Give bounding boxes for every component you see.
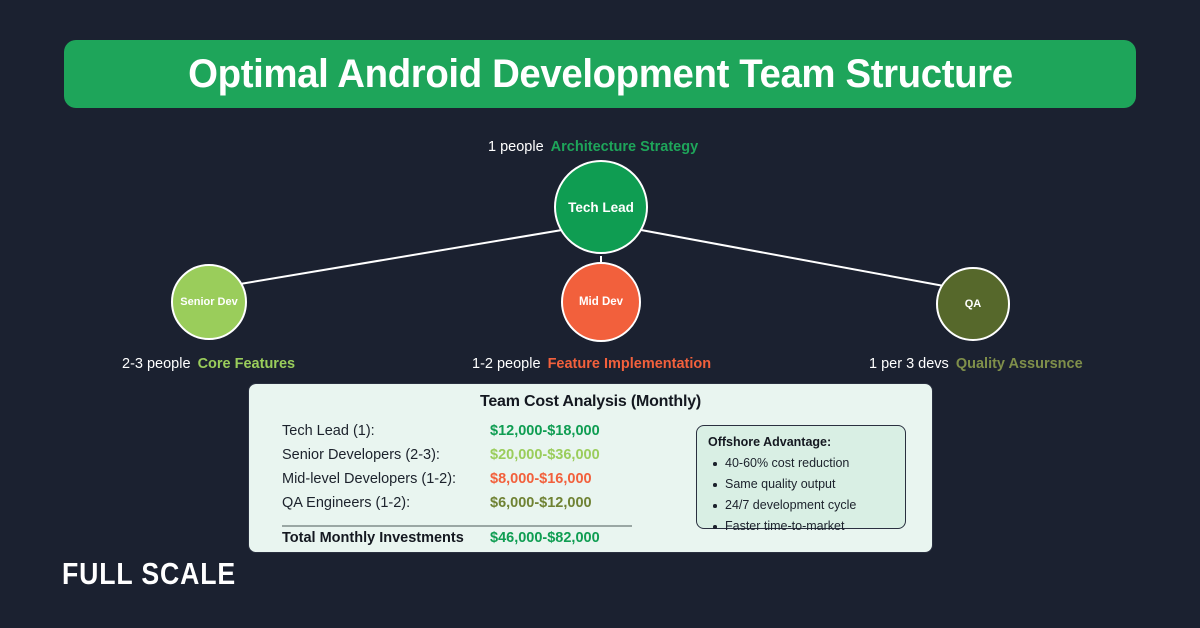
cost-row: Senior Developers (2-3): $20,000-$36,000 (282, 447, 652, 471)
brand-logo: FULL SCALE (62, 556, 236, 592)
cost-row-value: $12,000-$18,000 (490, 423, 600, 439)
caption-qa-count: 1 per 3 devs (869, 356, 949, 372)
cost-row-label: Mid-level Developers (1-2): (282, 471, 490, 487)
cost-analysis-panel: Team Cost Analysis (Monthly) Tech Lead (… (248, 383, 933, 553)
caption-tech-lead-count: 1 people (488, 139, 544, 155)
org-node-senior-dev[interactable]: Senior Dev (171, 264, 247, 340)
org-node-tech-lead[interactable]: Tech Lead (554, 160, 648, 254)
org-node-qa[interactable]: QA (936, 267, 1010, 341)
cost-total-value: $46,000-$82,000 (490, 530, 600, 546)
caption-senior-dev-count: 2-3 people (122, 356, 191, 372)
cost-row-label: Senior Developers (2-3): (282, 447, 490, 463)
caption-tech-lead: 1 people Architecture Strategy (488, 139, 698, 155)
org-node-mid-dev[interactable]: Mid Dev (561, 262, 641, 342)
title-banner: Optimal Android Development Team Structu… (64, 40, 1136, 108)
list-item: Faster time-to-market (708, 516, 894, 537)
connector-tech-lead-to-senior-dev (240, 230, 562, 284)
caption-qa-role: Quality Assursnce (956, 356, 1083, 372)
cost-row-value: $8,000-$16,000 (490, 471, 592, 487)
org-node-qa-label: QA (965, 298, 982, 310)
cost-panel-title: Team Cost Analysis (Monthly) (249, 393, 932, 411)
org-node-mid-dev-label: Mid Dev (579, 296, 623, 308)
cost-row: QA Engineers (1-2): $6,000-$12,000 (282, 495, 652, 519)
offshore-advantage-title: Offshore Advantage: (708, 435, 894, 449)
cost-total-label: Total Monthly Investments (282, 530, 490, 546)
cost-row: Mid-level Developers (1-2): $8,000-$16,0… (282, 471, 652, 495)
list-item: 24/7 development cycle (708, 495, 894, 516)
offshore-advantage-list: 40-60% cost reduction Same quality outpu… (708, 453, 894, 537)
page-title: Optimal Android Development Team Structu… (188, 52, 1013, 97)
caption-mid-dev-role: Feature Implementation (548, 356, 712, 372)
caption-mid-dev: 1-2 people Feature Implementation (472, 356, 711, 372)
cost-row: Tech Lead (1): $12,000-$18,000 (282, 423, 652, 447)
cost-table-divider (282, 525, 632, 527)
caption-qa: 1 per 3 devs Quality Assursnce (869, 356, 1083, 372)
caption-senior-dev-role: Core Features (198, 356, 296, 372)
org-chart: Tech Lead Senior Dev Mid Dev QA 1 people… (0, 120, 1200, 380)
org-node-tech-lead-label: Tech Lead (568, 200, 634, 215)
cost-total-row: Total Monthly Investments $46,000-$82,00… (282, 530, 652, 546)
org-node-senior-dev-label: Senior Dev (180, 296, 237, 308)
list-item: 40-60% cost reduction (708, 453, 894, 474)
caption-senior-dev: 2-3 people Core Features (122, 356, 295, 372)
cost-row-label: QA Engineers (1-2): (282, 495, 490, 511)
cost-row-value: $20,000-$36,000 (490, 447, 600, 463)
offshore-advantage-box: Offshore Advantage: 40-60% cost reductio… (696, 425, 906, 529)
cost-table: Tech Lead (1): $12,000-$18,000 Senior De… (282, 423, 652, 519)
list-item: Same quality output (708, 474, 894, 495)
connector-tech-lead-to-qa (641, 230, 944, 286)
cost-row-label: Tech Lead (1): (282, 423, 490, 439)
cost-row-value: $6,000-$12,000 (490, 495, 592, 511)
caption-tech-lead-role: Architecture Strategy (551, 139, 698, 155)
caption-mid-dev-count: 1-2 people (472, 356, 541, 372)
